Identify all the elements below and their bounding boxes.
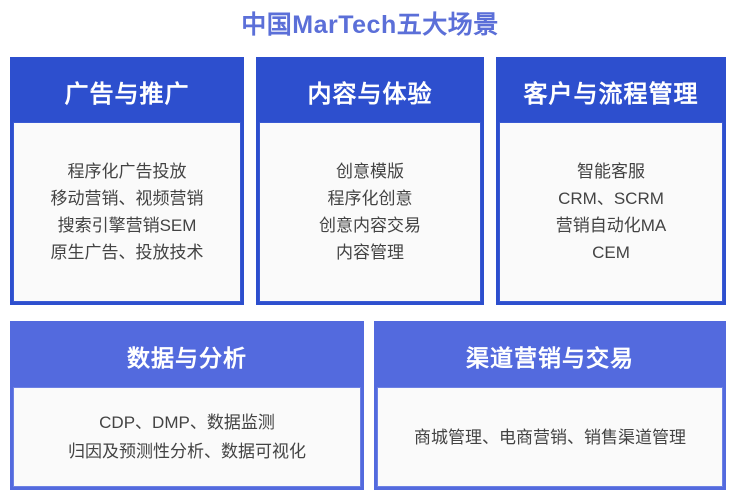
card-data[interactable]: 数据与分析 CDP、DMP、数据监测 归因及预测性分析、数据可视化 [10,321,364,490]
list-item: 原生广告、投放技术 [51,239,204,266]
card-channel-header: 渠道营销与交易 [377,324,723,387]
list-item: 创意模版 [336,158,404,185]
card-advertising[interactable]: 广告与推广 程序化广告投放 移动营销、视频营销 搜索引擎营销SEM 原生广告、投… [10,57,244,305]
list-item: 营销自动化MA [556,212,667,239]
card-data-header: 数据与分析 [13,324,361,387]
infographic-page: 中国MarTech五大场景 广告与推广 程序化广告投放 移动营销、视频营销 搜索… [0,0,740,504]
list-item: CEM [592,239,630,266]
list-item: 创意内容交易 [319,212,421,239]
card-customer-body: 智能客服 CRM、SCRM 营销自动化MA CEM [499,122,723,302]
list-item: 归因及预测性分析、数据可视化 [68,437,306,466]
card-advertising-body: 程序化广告投放 移动营销、视频营销 搜索引擎营销SEM 原生广告、投放技术 [13,122,241,302]
page-title: 中国MarTech五大场景 [0,8,740,42]
card-data-body: CDP、DMP、数据监测 归因及预测性分析、数据可视化 [13,387,361,487]
card-content[interactable]: 内容与体验 创意模版 程序化创意 创意内容交易 内容管理 [256,57,484,305]
card-content-body: 创意模版 程序化创意 创意内容交易 内容管理 [259,122,481,302]
card-customer[interactable]: 客户与流程管理 智能客服 CRM、SCRM 营销自动化MA CEM [496,57,726,305]
card-channel-body: 商城管理、电商营销、销售渠道管理 [377,387,723,487]
card-customer-header: 客户与流程管理 [499,60,723,122]
list-item: 搜索引擎营销SEM [58,212,197,239]
list-item: CDP、DMP、数据监测 [99,408,275,437]
card-content-header: 内容与体验 [259,60,481,122]
list-item: 程序化广告投放 [68,158,187,185]
list-item: 智能客服 [577,158,645,185]
list-item: 移动营销、视频营销 [51,185,204,212]
card-channel[interactable]: 渠道营销与交易 商城管理、电商营销、销售渠道管理 [374,321,726,490]
card-advertising-header: 广告与推广 [13,60,241,122]
list-item: 内容管理 [336,239,404,266]
list-item: CRM、SCRM [558,185,664,212]
list-item: 程序化创意 [328,185,413,212]
list-item: 商城管理、电商营销、销售渠道管理 [414,423,686,452]
